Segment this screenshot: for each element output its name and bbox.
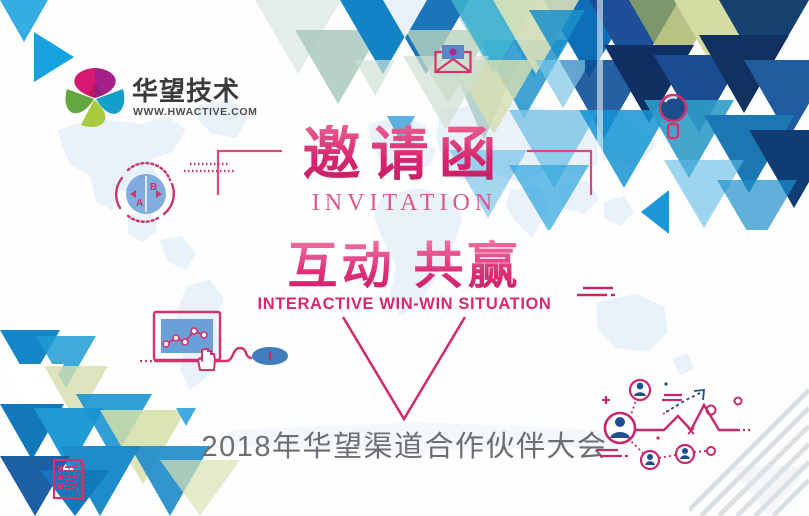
laptop-chart-icon xyxy=(140,308,300,376)
svg-text:A: A xyxy=(136,198,143,209)
angle-bracket-right-decoration xyxy=(525,147,595,197)
page-title: 邀请函 xyxy=(302,125,506,186)
subtitle: 互动 共赢 xyxy=(0,239,809,294)
five-petal-flower-logo xyxy=(64,62,126,128)
invitation-poster: 华望技术 WWW.HWACTIVE.COM 邀请函 INVITATION 互动 … xyxy=(0,0,809,516)
dotted-line-decoration xyxy=(182,160,248,176)
page-title-en: INVITATION xyxy=(302,190,506,217)
subtitle-en: INTERACTIVE WIN-WIN SITUATION xyxy=(0,295,809,314)
dash-line-decoration xyxy=(577,284,637,300)
ab-test-circle-icon: B A xyxy=(108,158,184,232)
brand-url: WWW.HWACTIVE.COM xyxy=(133,106,258,118)
brand-name: 华望技术 xyxy=(132,71,240,108)
magnifying-glass-icon xyxy=(655,92,691,140)
envelope-icon xyxy=(434,44,472,74)
svg-text:B: B xyxy=(150,182,157,193)
clipboard-checklist-icon xyxy=(52,458,86,502)
title-row: 邀请函 INVITATION xyxy=(302,125,506,217)
social-network-graph-icon xyxy=(578,372,750,477)
